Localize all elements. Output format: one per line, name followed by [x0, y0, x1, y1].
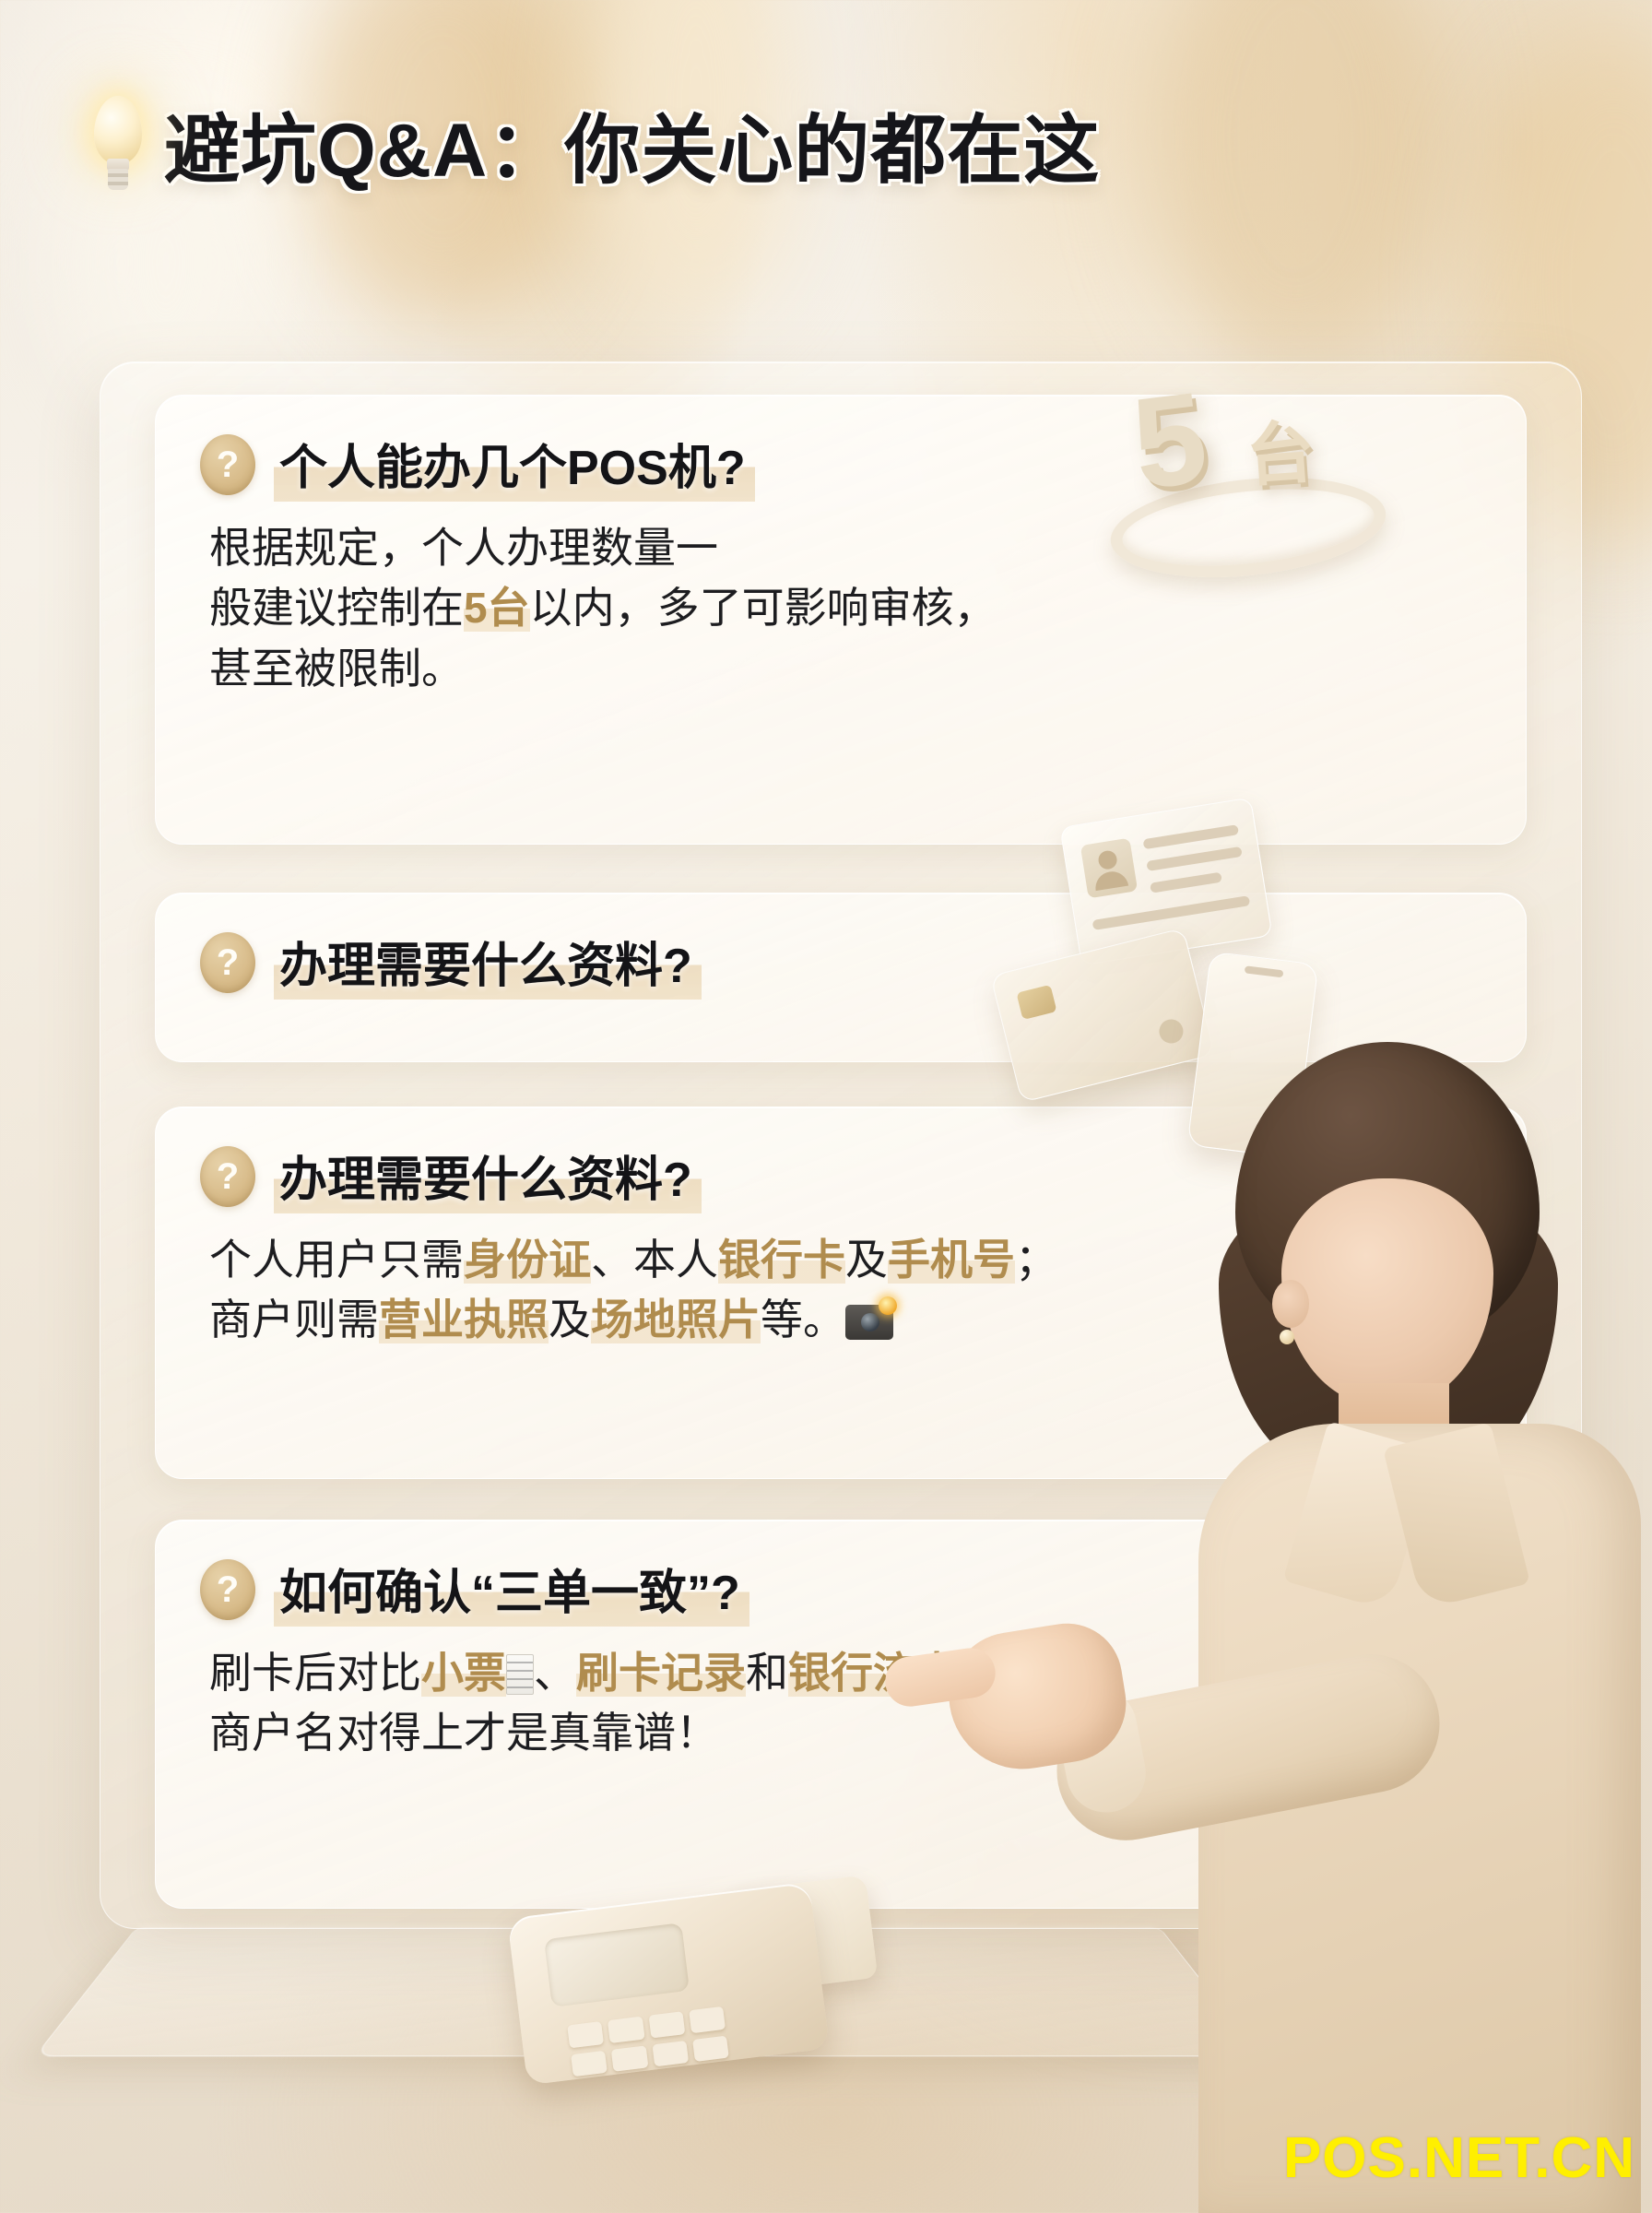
- lightbulb-icon: [88, 96, 147, 192]
- answer-segment: 以内，多了可影响审核，: [530, 584, 997, 632]
- highlighted-term: 手机号: [888, 1236, 1015, 1284]
- answer-segment: 等。: [761, 1296, 845, 1343]
- qa-card[interactable]: ?办理需要什么资料?: [155, 893, 1527, 1062]
- answer-segment: 甚至被限制。: [209, 645, 464, 692]
- answer-segment: 、本人: [591, 1236, 718, 1284]
- pos-terminal-illustration: [516, 1863, 885, 2093]
- answer-segment: 商户名对得上才是真靠谱！: [209, 1709, 718, 1757]
- highlighted-term: 刷卡记录: [576, 1649, 746, 1697]
- page-title: 避坑Q&A：你关心的都在这: [164, 89, 1100, 198]
- question-text: 个人能办几个POS机?: [274, 427, 755, 502]
- answer-segment: 及: [845, 1236, 888, 1284]
- highlighted-term: 身份证: [464, 1236, 591, 1284]
- receipt-icon: [506, 1654, 534, 1695]
- question-row: ?个人能办几个POS机?: [156, 396, 1526, 502]
- answer-segment: 刷卡后对比: [209, 1649, 421, 1697]
- question-mark-icon: ?: [200, 1146, 255, 1207]
- answer-segment: 般建议控制在: [209, 584, 464, 632]
- answer-segment: 商户则需: [209, 1296, 379, 1343]
- question-mark-icon: ?: [200, 434, 255, 495]
- qa-card[interactable]: ?个人能办几个POS机?根据规定，个人办理数量一般建议控制在5台以内，多了可影响…: [155, 395, 1527, 845]
- answer-segment: 根据规定，个人办理数量一: [209, 524, 718, 572]
- question-row: ?办理需要什么资料?: [156, 893, 1526, 1000]
- highlighted-term: 营业执照: [379, 1296, 549, 1343]
- highlighted-term: 银行卡: [718, 1236, 845, 1284]
- highlighted-term: 5台: [464, 584, 530, 632]
- person-illustration: [1034, 1042, 1652, 2213]
- answer-segment: 个人用户只需: [209, 1236, 464, 1284]
- question-text: 如何确认“三单一致”?: [274, 1552, 749, 1627]
- question-text: 办理需要什么资料?: [274, 1139, 702, 1213]
- question-text: 办理需要什么资料?: [274, 925, 702, 1000]
- answer-segment: 和: [746, 1649, 788, 1697]
- answer-line: 根据规定，个人办理数量一: [209, 518, 1489, 578]
- background-bokeh-3: [1143, 0, 1447, 378]
- question-mark-icon: ?: [200, 932, 255, 993]
- answer-line: 般建议控制在5台以内，多了可影响审核，: [209, 578, 1489, 638]
- answer-segment: 及: [549, 1296, 591, 1343]
- highlighted-term: 场地照片: [591, 1296, 761, 1343]
- camera-icon: [845, 1305, 893, 1340]
- answer-segment: 、: [534, 1649, 576, 1697]
- highlighted-term: 小票: [421, 1649, 506, 1697]
- page-header: 避坑Q&A：你关心的都在这: [88, 89, 1100, 198]
- watermark: POS.NET.CN: [1283, 2125, 1635, 2191]
- answer-text: 根据规定，个人办理数量一般建议控制在5台以内，多了可影响审核，甚至被限制。: [156, 502, 1526, 699]
- answer-line: 甚至被限制。: [209, 639, 1489, 699]
- question-mark-icon: ?: [200, 1559, 255, 1620]
